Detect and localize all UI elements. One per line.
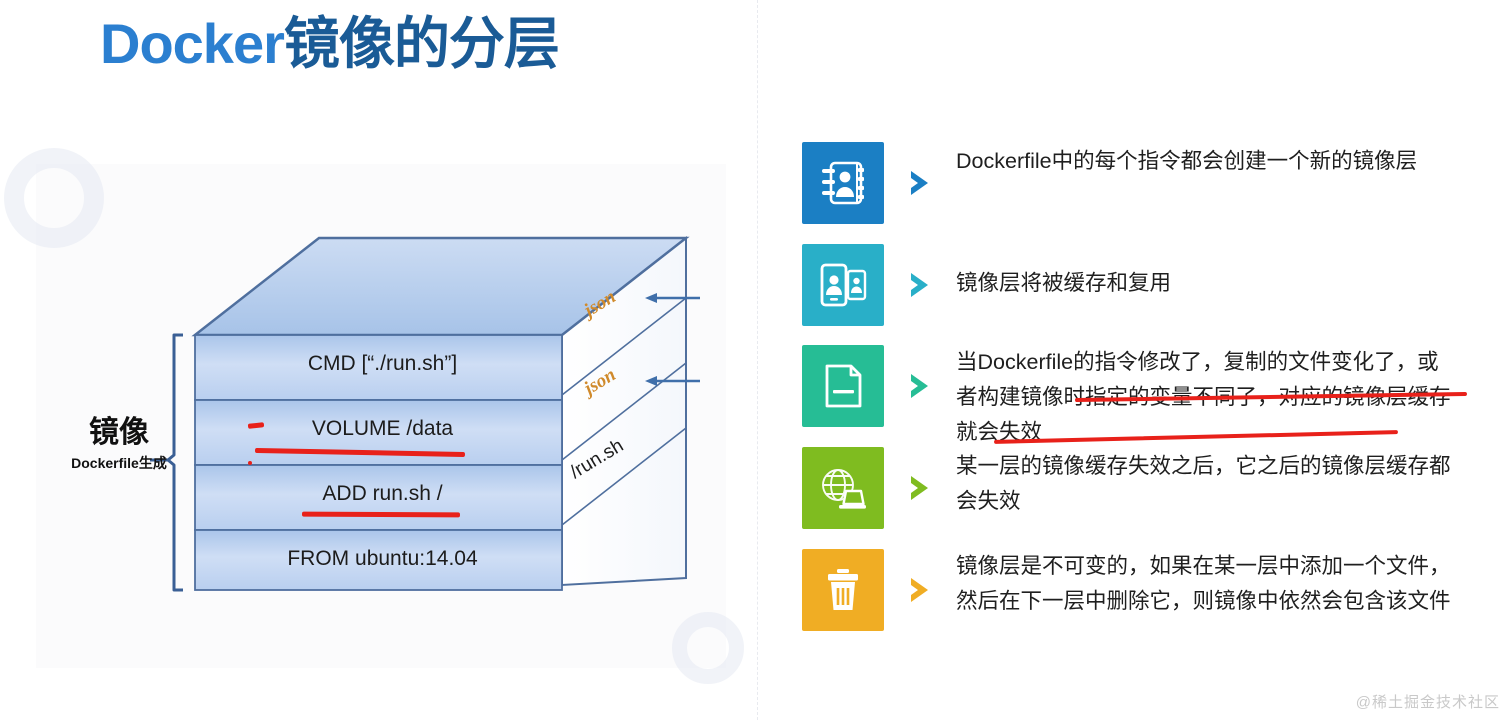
diagram-caption: 镜像 Dockerfile生成 — [64, 415, 174, 473]
bullet-item-4: 某一层的镜像缓存失效之后，它之后的镜像层缓存都会失效 — [802, 447, 1454, 529]
caption-sub: Dockerfile生成 — [64, 453, 174, 473]
chevron-right-icon-4 — [884, 447, 956, 529]
layer-label-volume: VOLUME /data — [205, 417, 560, 441]
bullet-list: Dockerfile中的每个指令都会创建一个新的镜像层 镜像层将被缓存和复用 — [802, 0, 1502, 720]
bullet-text-2: 镜像层将被缓存和复用 — [956, 244, 1171, 301]
chevron-right-icon-5 — [884, 549, 956, 631]
layer-label-add: ADD run.sh / — [205, 482, 560, 506]
bullet-text-4: 某一层的镜像缓存失效之后，它之后的镜像层缓存都会失效 — [956, 447, 1454, 519]
globe-laptop-icon — [802, 447, 884, 529]
chevron-right-icon-1 — [884, 142, 956, 224]
trash-icon — [802, 549, 884, 631]
bullet-item-5: 镜像层是不可变的，如果在某一层中添加一个文件，然后在下一层中删除它，则镜像中依然… — [802, 549, 1454, 631]
slide-root: Docker镜像的分层 — [0, 0, 1512, 720]
layer-label-cmd: CMD [“./run.sh”] — [205, 352, 560, 376]
document-minus-icon — [802, 345, 884, 427]
bullet-text-1: Dockerfile中的每个指令都会创建一个新的镜像层 — [956, 142, 1417, 179]
chevron-right-icon-3 — [884, 345, 956, 427]
layer-label-from: FROM ubuntu:14.04 — [205, 547, 560, 571]
bullet-text-5: 镜像层是不可变的，如果在某一层中添加一个文件，然后在下一层中删除它，则镜像中依然… — [956, 549, 1454, 619]
red-annotation-dot — [248, 461, 252, 465]
red-underline-add — [302, 512, 460, 518]
caption-main: 镜像 — [64, 415, 174, 451]
chevron-right-icon-2 — [884, 244, 956, 326]
bullet-item-1: Dockerfile中的每个指令都会创建一个新的镜像层 — [802, 142, 1417, 224]
watermark: @稀土掘金技术社区 — [1356, 691, 1500, 712]
address-book-icon — [802, 142, 884, 224]
two-phones-icon — [802, 244, 884, 326]
bullet-item-2: 镜像层将被缓存和复用 — [802, 244, 1171, 326]
docker-layer-diagram: CMD [“./run.sh”] VOLUME /data ADD run.sh… — [0, 0, 760, 720]
